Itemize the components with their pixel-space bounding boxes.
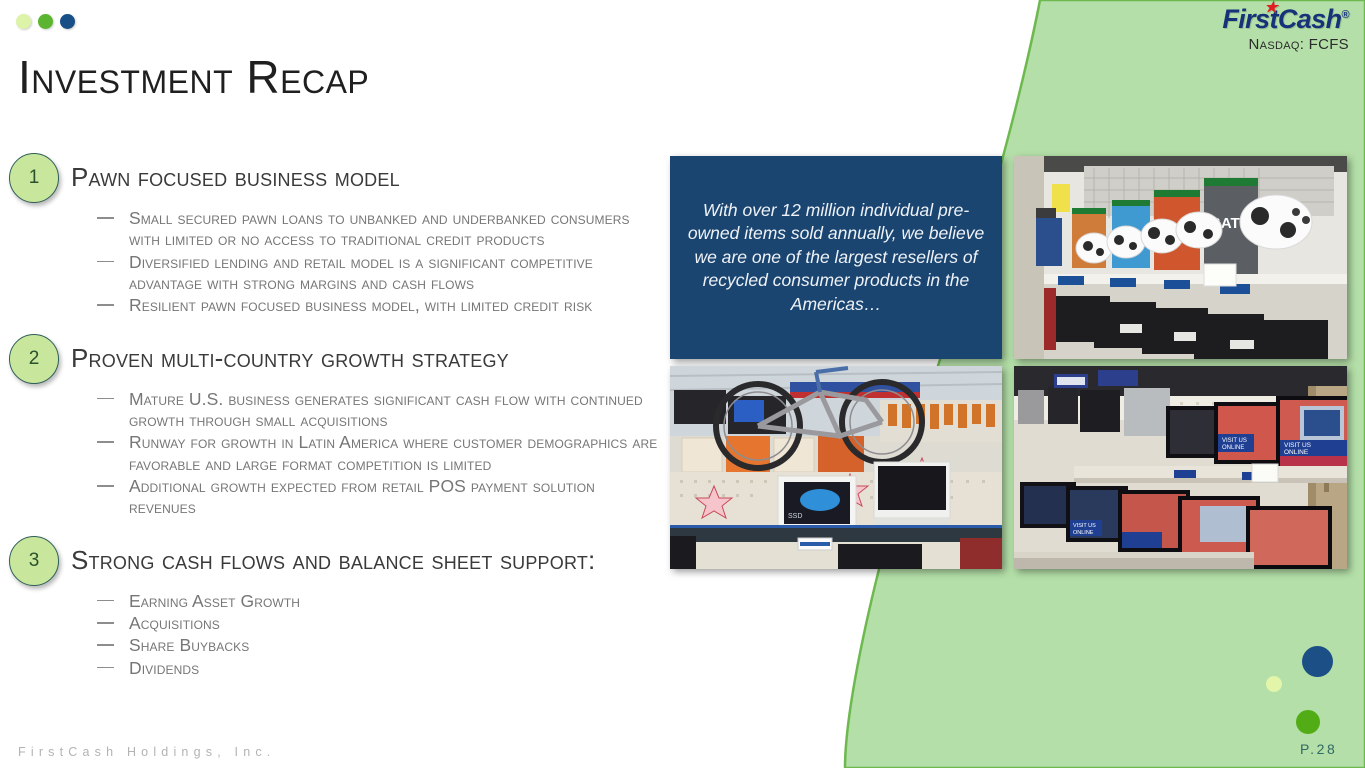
list-item: Resilient pawn focused business model, w… xyxy=(0,295,660,316)
bullet-dash-icon xyxy=(97,667,114,669)
section-2-number-badge: 2 xyxy=(9,334,59,384)
photo-xbox-controllers-shelf: BATT xyxy=(1014,156,1347,359)
logo-ticker: Nasdaq: FCFS xyxy=(1222,36,1349,53)
list-item: Share Buybacks xyxy=(0,635,660,656)
svg-text:ONLINE: ONLINE xyxy=(1284,449,1309,456)
bullet-dash-icon xyxy=(97,600,114,602)
footer-company-name: FirstCash Holdings, Inc. xyxy=(18,745,275,759)
bullet-text: Mature U.S. business generates significa… xyxy=(129,389,643,430)
bullet-dash-icon xyxy=(97,644,114,646)
section-3-title: Strong cash flows and balance sheet supp… xyxy=(71,546,595,576)
section-1: 1 Pawn focused business model Small secu… xyxy=(0,150,660,317)
page-title: Investment Recap xyxy=(18,52,369,103)
section-2: 2 Proven multi-country growth strategy M… xyxy=(0,331,660,519)
list-item: Earning Asset Growth xyxy=(0,591,660,612)
logo-star-icon: ★ xyxy=(1264,0,1277,15)
list-item: Additional growth expected from retail P… xyxy=(0,476,660,519)
section-1-header: 1 Pawn focused business model xyxy=(0,150,660,206)
bullet-text: Diversified lending and retail model is … xyxy=(129,252,593,293)
bullet-text: Earning Asset Growth xyxy=(129,591,300,611)
quote-text: With over 12 million individual pre-owne… xyxy=(686,199,986,316)
bullet-dash-icon xyxy=(97,217,114,219)
bullet-dash-icon xyxy=(97,261,114,263)
logo-block: ★FirstCash® Nasdaq: FCFS xyxy=(1222,6,1349,53)
list-item: Mature U.S. business generates significa… xyxy=(0,389,660,432)
bullet-text: Dividends xyxy=(129,658,199,678)
section-3-header: 3 Strong cash flows and balance sheet su… xyxy=(0,533,660,589)
section-2-bullets: Mature U.S. business generates significa… xyxy=(0,389,660,519)
deco-dot-navy-icon xyxy=(1302,646,1333,677)
list-item: Acquisitions xyxy=(0,613,660,634)
list-item: Small secured pawn loans to unbanked and… xyxy=(0,208,660,251)
dot-pale-green-icon xyxy=(16,14,31,29)
section-1-title: Pawn focused business model xyxy=(71,163,400,193)
bullet-dash-icon xyxy=(97,398,114,400)
bullet-text: Share Buybacks xyxy=(129,635,249,655)
photo-tv-wall-display: VISIT US ONLINE VISIT US ONLINE xyxy=(1014,366,1347,569)
list-item: Diversified lending and retail model is … xyxy=(0,252,660,295)
logo-registered-icon: ® xyxy=(1341,9,1349,21)
bullet-dash-icon xyxy=(97,441,114,443)
slide-canvas: Investment Recap ★FirstCash® Nasdaq: FCF… xyxy=(0,0,1365,768)
bullet-text: Resilient pawn focused business model, w… xyxy=(129,295,592,315)
svg-text:ONLINE: ONLINE xyxy=(1222,445,1244,451)
bullet-text: Runway for growth in Latin America where… xyxy=(129,432,657,473)
logo-brand-text: FirstCash xyxy=(1222,4,1341,34)
deco-dot-pale-icon xyxy=(1266,676,1282,692)
section-2-header: 2 Proven multi-country growth strategy xyxy=(0,331,660,387)
svg-text:SSD: SSD xyxy=(788,513,802,520)
dot-green-icon xyxy=(38,14,53,29)
content-column: 1 Pawn focused business model Small secu… xyxy=(0,150,660,680)
svg-text:VISIT US: VISIT US xyxy=(1073,523,1096,529)
svg-text:VISIT US: VISIT US xyxy=(1222,438,1247,444)
svg-text:VISIT US: VISIT US xyxy=(1284,442,1312,449)
section-3: 3 Strong cash flows and balance sheet su… xyxy=(0,533,660,679)
deco-dot-green-icon xyxy=(1296,710,1320,734)
section-3-number-badge: 3 xyxy=(9,536,59,586)
bullet-text: Additional growth expected from retail P… xyxy=(129,476,595,517)
bullet-text: Small secured pawn loans to unbanked and… xyxy=(129,208,630,249)
bullet-dash-icon xyxy=(97,485,114,487)
bullet-dash-icon xyxy=(97,622,114,624)
list-item: Dividends xyxy=(0,658,660,679)
svg-text:ONLINE: ONLINE xyxy=(1073,530,1094,536)
dot-navy-icon xyxy=(60,14,75,29)
section-3-bullets: Earning Asset Growth Acquisitions Share … xyxy=(0,591,660,679)
firstcash-logo: ★FirstCash® xyxy=(1222,6,1349,33)
photo-store-bicycle-laptops: SSD xyxy=(670,366,1002,569)
list-item: Runway for growth in Latin America where… xyxy=(0,432,660,475)
section-2-title: Proven multi-country growth strategy xyxy=(71,344,509,374)
section-1-number-badge: 1 xyxy=(9,153,59,203)
section-1-bullets: Small secured pawn loans to unbanked and… xyxy=(0,208,660,317)
bullet-text: Acquisitions xyxy=(129,613,220,633)
quote-callout-box: With over 12 million individual pre-owne… xyxy=(670,156,1002,359)
page-number: P.28 xyxy=(1300,741,1337,757)
bullet-dash-icon xyxy=(97,304,114,306)
header-decorative-dots xyxy=(16,14,75,29)
